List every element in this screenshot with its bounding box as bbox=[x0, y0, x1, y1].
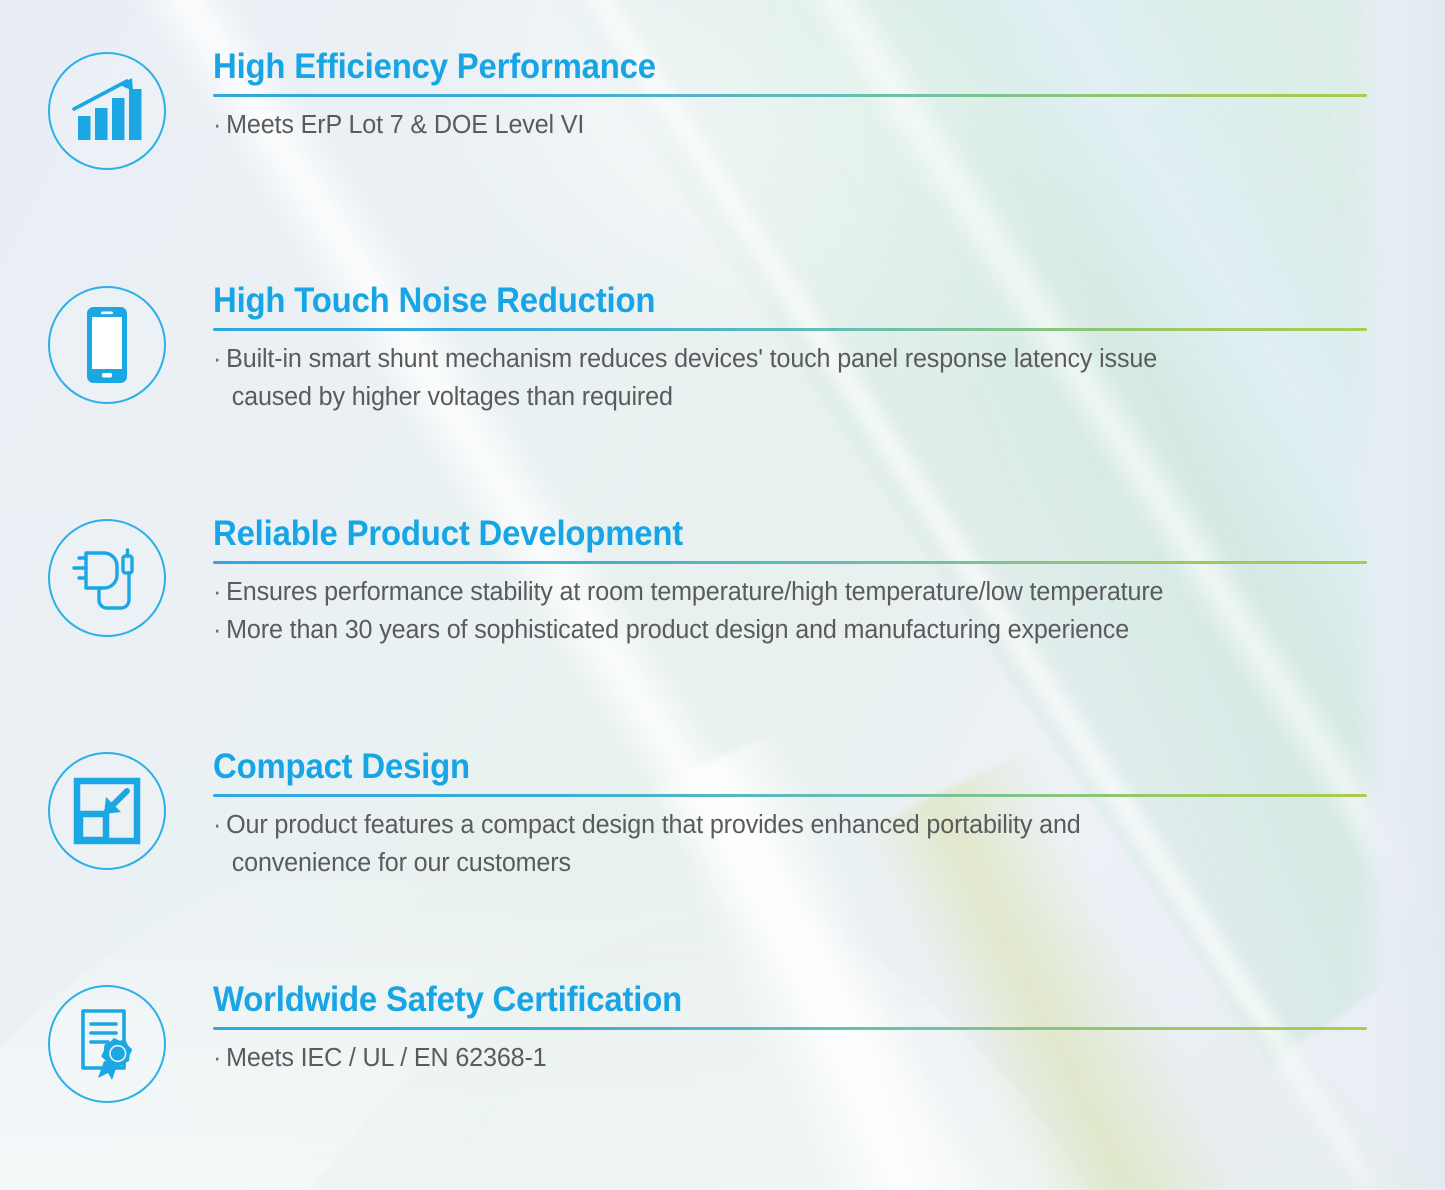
feature-title: High Touch Noise Reduction bbox=[213, 282, 1298, 319]
feature-bullet: ·Ensures performance stability at room t… bbox=[213, 573, 1350, 611]
feature-icon-container bbox=[0, 981, 213, 1103]
feature-title: Reliable Product Development bbox=[213, 515, 1298, 552]
resize-compact-icon bbox=[48, 752, 166, 870]
feature-item-compact-design: Compact Design ·Our product features a c… bbox=[0, 748, 1445, 883]
feature-title: Worldwide Safety Certification bbox=[213, 981, 1298, 1018]
bullet-line: Built-in smart shunt mechanism reduces d… bbox=[226, 345, 1157, 373]
feature-divider bbox=[213, 94, 1367, 97]
bullet-marker: · bbox=[213, 578, 221, 606]
feature-text-container: High Touch Noise Reduction ·Built-in sma… bbox=[213, 282, 1445, 417]
feature-item-worldwide-safety-certification: Worldwide Safety Certification ·Meets IE… bbox=[0, 981, 1445, 1103]
feature-text-container: Compact Design ·Our product features a c… bbox=[213, 748, 1445, 883]
feature-item-reliable-product-development: Reliable Product Development ·Ensures pe… bbox=[0, 515, 1445, 650]
feature-text-container: High Efficiency Performance ·Meets ErP L… bbox=[213, 48, 1445, 144]
feature-text-container: Worldwide Safety Certification ·Meets IE… bbox=[213, 981, 1445, 1077]
feature-bullet: ·Meets IEC / UL / EN 62368-1 bbox=[213, 1039, 1350, 1077]
feature-bullet: ·Built-in smart shunt mechanism reduces … bbox=[213, 340, 1350, 417]
feature-bullets: ·Built-in smart shunt mechanism reduces … bbox=[213, 340, 1367, 417]
feature-icon-container bbox=[0, 48, 213, 170]
feature-bullets: ·Meets IEC / UL / EN 62368-1 bbox=[213, 1039, 1367, 1077]
feature-icon-container bbox=[0, 282, 213, 404]
feature-icon-container bbox=[0, 515, 213, 637]
bullet-marker: · bbox=[213, 811, 221, 839]
bullet-marker: · bbox=[213, 345, 221, 373]
feature-bullets: ·Our product features a compact design t… bbox=[213, 806, 1367, 883]
bullet-line: Meets IEC / UL / EN 62368-1 bbox=[226, 1044, 546, 1072]
bullet-marker: · bbox=[213, 1044, 221, 1072]
bullet-marker: · bbox=[213, 616, 221, 644]
feature-divider bbox=[213, 561, 1367, 564]
feature-item-high-efficiency-performance: High Efficiency Performance ·Meets ErP L… bbox=[0, 48, 1445, 170]
bullet-line-continuation: convenience for our customers bbox=[213, 844, 1350, 882]
smartphone-icon bbox=[48, 286, 166, 404]
bar-chart-growth-icon bbox=[48, 52, 166, 170]
feature-title: Compact Design bbox=[213, 748, 1298, 785]
feature-icon-container bbox=[0, 748, 213, 870]
bullet-line: Ensures performance stability at room te… bbox=[226, 578, 1163, 606]
bullet-line: Our product features a compact design th… bbox=[226, 811, 1080, 839]
feature-item-high-touch-noise-reduction: High Touch Noise Reduction ·Built-in sma… bbox=[0, 282, 1445, 417]
feature-divider bbox=[213, 794, 1367, 797]
power-adapter-icon bbox=[48, 519, 166, 637]
feature-bullets: ·Meets ErP Lot 7 & DOE Level VI bbox=[213, 106, 1367, 144]
feature-divider bbox=[213, 1027, 1367, 1030]
bullet-line: Meets ErP Lot 7 & DOE Level VI bbox=[226, 111, 584, 139]
bullet-line-continuation: caused by higher voltages than required bbox=[213, 378, 1350, 416]
feature-bullets: ·Ensures performance stability at room t… bbox=[213, 573, 1367, 650]
feature-divider bbox=[213, 328, 1367, 331]
certificate-award-icon bbox=[48, 985, 166, 1103]
feature-title: High Efficiency Performance bbox=[213, 48, 1298, 85]
feature-text-container: Reliable Product Development ·Ensures pe… bbox=[213, 515, 1445, 650]
feature-bullet: ·Meets ErP Lot 7 & DOE Level VI bbox=[213, 106, 1350, 144]
feature-bullet: ·More than 30 years of sophisticated pro… bbox=[213, 611, 1350, 649]
bullet-marker: · bbox=[213, 111, 221, 139]
bullet-line: More than 30 years of sophisticated prod… bbox=[226, 616, 1129, 644]
feature-bullet: ·Our product features a compact design t… bbox=[213, 806, 1350, 883]
